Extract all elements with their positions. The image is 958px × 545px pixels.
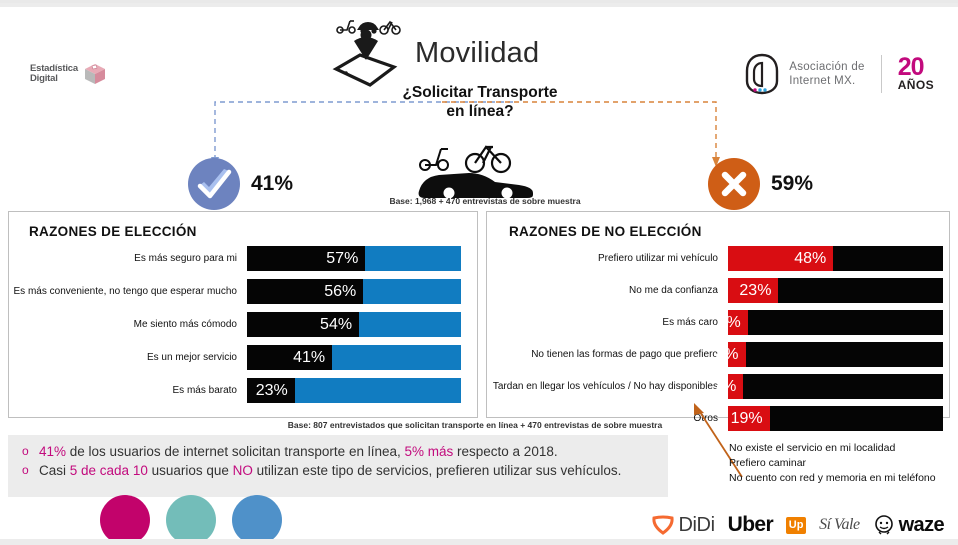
- chart-row-value: 56%: [324, 283, 363, 301]
- chart-row-value: 7%: [713, 378, 743, 396]
- brand-waze: waze: [873, 514, 944, 537]
- asociacion-wordmark: Asociación de Internet MX.: [789, 60, 865, 88]
- brand-uber: Uber: [728, 513, 773, 537]
- chart-row-label: Es más seguro para mi: [9, 253, 247, 265]
- right-chart-title: RAZONES DE NO ELECCIÓN: [509, 224, 702, 239]
- anniversary-block: 20 AÑOS: [898, 56, 934, 92]
- estadistica-digital-logo: Estadística Digital: [30, 59, 148, 89]
- chart-row-track: 9%: [728, 310, 943, 335]
- x-circle-icon: [708, 158, 760, 210]
- brand-sivale: Sí Vale: [819, 516, 860, 534]
- chart-row-value: 23%: [739, 282, 778, 300]
- bullet-marker: o: [22, 461, 39, 480]
- decorative-circles: [100, 495, 282, 545]
- brand-up: Up: [786, 517, 806, 534]
- chart-row: Es más seguro para mi57%: [9, 246, 477, 271]
- asociacion-line-1: Asociación de: [789, 60, 865, 74]
- chart-row-track: 23%: [728, 278, 943, 303]
- chart-row-label: Es más barato: [9, 385, 247, 397]
- verdict-yes-value: 41%: [251, 172, 293, 196]
- decorative-circle: [166, 495, 216, 545]
- asociacion-line-2: Internet MX.: [789, 74, 865, 88]
- estadistica-digital-text: Estadística Digital: [30, 64, 78, 84]
- chart-row-bar: 23%: [247, 378, 295, 403]
- chart-row-bar: 48%: [728, 246, 833, 271]
- base-note-top: Base: 1,968 + 470 entrevistas de sobre m…: [340, 196, 630, 206]
- page-title: Movilidad: [415, 37, 539, 70]
- chart-row-label: Es un mejor servicio: [9, 352, 247, 364]
- bullet-marker: o: [22, 442, 39, 461]
- chart-row-label: Prefiero utilizar mi vehículo: [487, 253, 728, 265]
- chart-row-label: Es más caro: [487, 317, 728, 329]
- brand-uber-label: Uber: [728, 513, 773, 537]
- chart-row-value: 48%: [794, 250, 833, 268]
- asociacion-internet-logo: Asociación de Internet MX. 20 AÑOS: [744, 51, 934, 97]
- chart-row-bar: 8%: [728, 342, 746, 367]
- chart-row-track: 41%: [247, 345, 461, 370]
- didi-icon: [652, 515, 674, 535]
- chart-panel-razones-no-eleccion: RAZONES DE NO ELECCIÓN Prefiero utilizar…: [486, 211, 950, 418]
- brand-waze-label: waze: [899, 514, 944, 537]
- brand-didi-label: DiDi: [678, 514, 714, 537]
- key-finding-item: o41% de los usuarios de internet solicit…: [22, 442, 658, 461]
- chart-row-track: 48%: [728, 246, 943, 271]
- chart-row-track: 57%: [247, 246, 461, 271]
- brand-logos: DiDi Uber Up Sí Vale waze: [652, 513, 944, 537]
- chart-panel-razones-eleccion: RAZONES DE ELECCIÓN Es más seguro para m…: [8, 211, 478, 418]
- chart-row: Tardan en llegar los vehículos / No hay …: [487, 374, 949, 399]
- otros-detail-line: No existe el servicio en mi localidad: [729, 441, 936, 456]
- verdict-no: 59%: [708, 158, 813, 210]
- up-icon: Up: [786, 517, 806, 534]
- chart-row-track: 56%: [247, 279, 461, 304]
- slide-canvas: Estadística Digital: [0, 0, 958, 545]
- chart-row-label: No tienen las formas de pago que prefier…: [487, 349, 728, 361]
- chart-row-label: Tardan en llegar los vehículos / No hay …: [487, 381, 728, 393]
- chart-row-bar: 41%: [247, 345, 332, 370]
- chart-row: No tienen las formas de pago que prefier…: [487, 342, 949, 367]
- chart-row: No me da confianza23%: [487, 278, 949, 303]
- chart-row-track: 19%: [728, 406, 943, 431]
- otros-detail-line: Prefiero caminar: [729, 456, 936, 471]
- chart-row-track: 23%: [247, 378, 461, 403]
- chart-row-bar: 57%: [247, 246, 365, 271]
- chart-row-track: 54%: [247, 312, 461, 337]
- anniversary-number: 20: [898, 56, 934, 79]
- chart-row-bar: 56%: [247, 279, 363, 304]
- chart-row: Es más conveniente, no tengo que esperar…: [9, 279, 477, 304]
- base-note-bottom: Base: 807 entrevistados que solicitan tr…: [260, 420, 690, 430]
- chart-row-bar: 7%: [728, 374, 743, 399]
- chart-row-value: 41%: [293, 349, 332, 367]
- chart-row-bar: 9%: [728, 310, 748, 335]
- chart-row: Es más barato23%: [9, 378, 477, 403]
- key-finding-item: oCasi 5 de cada 10 usuarios que NO utili…: [22, 461, 658, 480]
- key-findings-box: o41% de los usuarios de internet solicit…: [8, 435, 668, 497]
- cube-icon: [83, 62, 107, 86]
- otros-detail-note: No existe el servicio en mi localidadPre…: [729, 441, 936, 486]
- otros-detail-line: No cuento con red y memoria en mi teléfo…: [729, 471, 936, 486]
- chart-row: Prefiero utilizar mi vehículo48%: [487, 246, 949, 271]
- asociacion-mark-icon: [744, 53, 780, 95]
- chart-row-label: Me siento más cómodo: [9, 319, 247, 331]
- chart-row-track: 8%: [728, 342, 943, 367]
- top-strip: [0, 3, 958, 7]
- decorative-circle: [100, 495, 150, 545]
- chart-row-value: 23%: [256, 382, 295, 400]
- chart-row-track: 7%: [728, 374, 943, 399]
- chart-row-bar: 54%: [247, 312, 359, 337]
- chart-row: Es más caro9%: [487, 310, 949, 335]
- logo-line-2: Digital: [30, 74, 78, 84]
- anniversary-word: AÑOS: [898, 79, 934, 92]
- left-chart-title: RAZONES DE ELECCIÓN: [29, 224, 197, 239]
- chart-row-label: No me da confianza: [487, 285, 728, 297]
- brand-sivale-label: Sí Vale: [819, 516, 860, 534]
- bottom-strip: [0, 539, 958, 545]
- left-chart-rows: Es más seguro para mi57%Es más convenien…: [9, 246, 477, 411]
- chart-row-value: 9%: [718, 314, 748, 332]
- chart-row: Me siento más cómodo54%: [9, 312, 477, 337]
- brand-didi: DiDi: [652, 514, 714, 537]
- check-circle-icon: [188, 158, 240, 210]
- logo-divider: [881, 55, 882, 93]
- chart-row-value: 54%: [320, 316, 359, 334]
- chart-row-value: 8%: [715, 346, 745, 364]
- chart-row-bar: 23%: [728, 278, 778, 303]
- verdict-no-value: 59%: [771, 172, 813, 196]
- chart-row: Es un mejor servicio41%: [9, 345, 477, 370]
- chart-row-value: 57%: [326, 250, 365, 268]
- decorative-circle: [232, 495, 282, 545]
- key-finding-text: Casi 5 de cada 10 usuarios que NO utiliz…: [39, 461, 621, 480]
- mobility-phone-icon: [330, 17, 402, 91]
- verdict-yes: 41%: [188, 158, 293, 210]
- waze-icon: [873, 515, 895, 535]
- scooter-bike-car-icon: [413, 143, 543, 198]
- key-finding-text: 41% de los usuarios de internet solicita…: [39, 442, 558, 461]
- chart-row-label: Es más conveniente, no tengo que esperar…: [9, 286, 247, 298]
